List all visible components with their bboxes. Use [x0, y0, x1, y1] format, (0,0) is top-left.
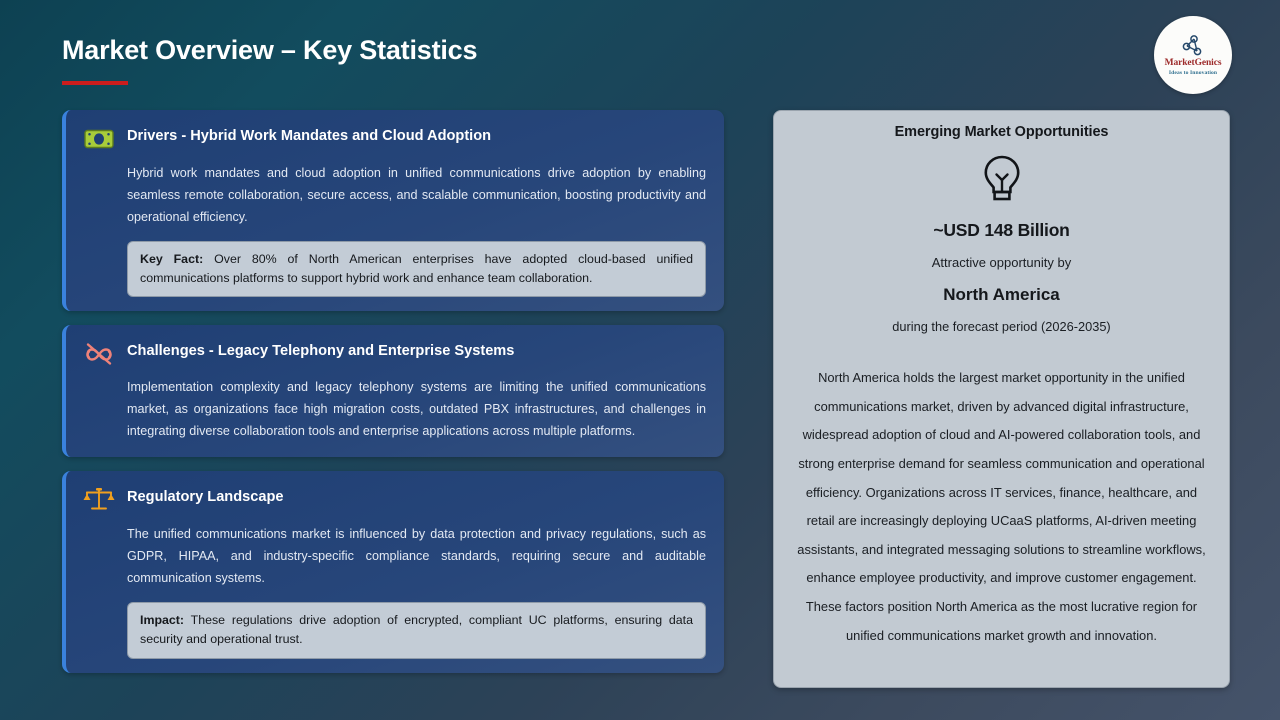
panel-description: North America holds the largest market o… — [792, 364, 1211, 650]
insight-cards-column: Drivers - Hybrid Work Mandates and Cloud… — [62, 110, 724, 687]
callout-label: Key Fact: — [140, 252, 203, 266]
panel-forecast-period: during the forecast period (2026-2035) — [892, 319, 1110, 334]
card-title: Challenges - Legacy Telephony and Enterp… — [127, 339, 514, 360]
panel-subtitle: Attractive opportunity by — [932, 255, 1071, 270]
card-body-text: Hybrid work mandates and cloud adoption … — [127, 163, 706, 229]
network-nodes-icon — [1180, 34, 1206, 58]
card-title: Drivers - Hybrid Work Mandates and Cloud… — [127, 124, 491, 145]
key-fact-callout: Key Fact: Over 80% of North American ent… — [127, 241, 706, 298]
lightbulb-icon — [981, 154, 1023, 209]
card-regulatory[interactable]: Regulatory Landscape The unified communi… — [62, 471, 724, 672]
logo-name: MarketGenics — [1165, 59, 1222, 69]
card-body-text: Implementation complexity and legacy tel… — [127, 377, 706, 443]
title-underline-rule — [62, 81, 128, 85]
panel-market-value: ~USD 148 Billion — [933, 220, 1069, 241]
broken-link-icon — [82, 337, 116, 371]
callout-text: Over 80% of North American enterprises h… — [140, 252, 693, 285]
logo-tagline: Ideas to Innovation — [1169, 70, 1217, 76]
banknote-icon — [82, 122, 116, 156]
card-header: Challenges - Legacy Telephony and Enterp… — [82, 339, 706, 371]
panel-region: North America — [943, 285, 1060, 305]
card-title: Regulatory Landscape — [127, 485, 284, 506]
emerging-opportunities-panel: Emerging Market Opportunities ~USD 148 B… — [773, 110, 1230, 688]
card-challenges[interactable]: Challenges - Legacy Telephony and Enterp… — [62, 325, 724, 457]
panel-title: Emerging Market Opportunities — [895, 124, 1109, 140]
card-drivers[interactable]: Drivers - Hybrid Work Mandates and Cloud… — [62, 110, 724, 311]
impact-callout: Impact: These regulations drive adoption… — [127, 602, 706, 659]
page-title: Market Overview – Key Statistics — [62, 36, 477, 66]
callout-text: These regulations drive adoption of encr… — [140, 613, 693, 646]
card-header: Regulatory Landscape — [82, 485, 706, 517]
page-header: Market Overview – Key Statistics — [62, 36, 477, 85]
callout-label: Impact: — [140, 613, 184, 627]
balance-scale-icon — [82, 483, 116, 517]
card-header: Drivers - Hybrid Work Mandates and Cloud… — [82, 124, 706, 156]
card-body-text: The unified communications market is inf… — [127, 524, 706, 590]
brand-logo[interactable]: MarketGenics Ideas to Innovation — [1154, 16, 1232, 94]
